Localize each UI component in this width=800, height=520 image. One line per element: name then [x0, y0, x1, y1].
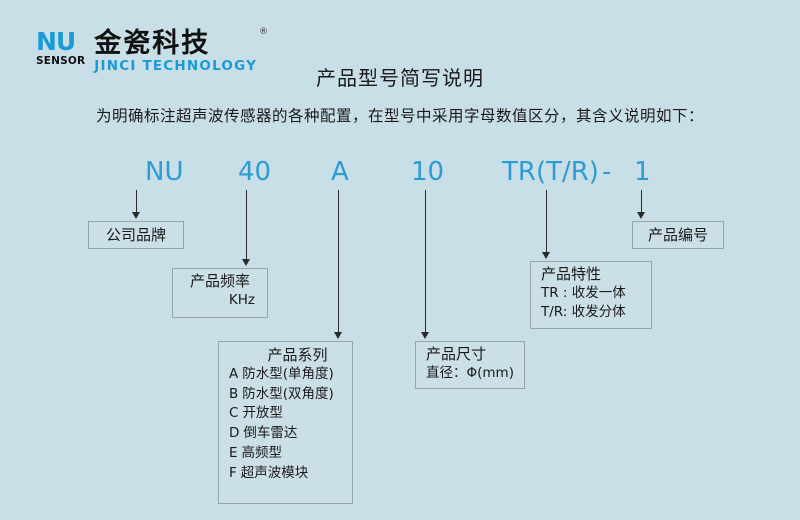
page-title: 产品型号简写说明 — [0, 62, 800, 91]
series-item-key: B — [229, 386, 238, 402]
callout-product-feature-t-r: T/R: 收发分体 — [541, 303, 643, 323]
series-item-desc: 开放型 — [242, 405, 283, 421]
callout-product-size-detail: 直径：Φ(mm) — [426, 364, 516, 384]
callout-product-frequency-title: 产品频率 — [181, 272, 259, 291]
callout-product-series: 产品系列 A防水型(单角度) B防水型(双角度) C开放型 D倒车雷达 E高频型… — [218, 341, 353, 504]
callout-product-serial-title: 产品编号 — [648, 226, 708, 245]
code-segment-frequency: 40 — [238, 159, 271, 185]
callout-product-series-title: 产品系列 — [229, 346, 344, 365]
series-item-key: A — [229, 366, 238, 382]
callout-product-serial: 产品编号 — [632, 221, 724, 249]
diagram-canvas: NU SENSOR 金瓷科技 ® JINCI TECHNOLOGY 产品型号简写… — [0, 0, 800, 520]
callout-company-brand: 公司品牌 — [88, 221, 184, 249]
series-item: D倒车雷达 — [229, 424, 344, 444]
connector-arrow-brand — [132, 212, 140, 219]
connector-line-series — [338, 190, 339, 334]
series-item-desc: 防水型(单角度) — [242, 366, 334, 382]
series-item-key: C — [229, 405, 238, 421]
page-subtitle: 为明确标注超声波传感器的各种配置，在型号中采用字母数值区分，其含义说明如下： — [0, 104, 800, 126]
connector-line-frequency — [246, 190, 247, 261]
series-item-key: E — [229, 445, 238, 461]
registered-trademark-icon: ® — [259, 28, 268, 37]
series-item: A防水型(单角度) — [229, 365, 344, 385]
code-segment-size: 10 — [411, 159, 444, 185]
callout-product-frequency-unit: KHz — [181, 291, 259, 311]
series-item: E高频型 — [229, 444, 344, 464]
series-item-desc: 超声波模块 — [241, 465, 309, 481]
series-item-desc: 高频型 — [242, 445, 283, 461]
logo-chinese-wrap: 金瓷科技 ® — [94, 30, 257, 57]
logo-chinese-name: 金瓷科技 — [94, 28, 210, 59]
callout-product-frequency: 产品频率 KHz — [172, 268, 268, 318]
series-item-desc: 防水型(双角度) — [242, 386, 334, 402]
connector-line-size — [425, 190, 426, 334]
code-segment-separator: - — [602, 159, 611, 185]
code-segment-series: A — [331, 159, 349, 185]
connector-arrow-series — [334, 332, 342, 339]
connector-line-feature — [546, 190, 547, 254]
series-item: C开放型 — [229, 404, 344, 424]
logo-nu-text: NU — [36, 30, 85, 54]
code-segment-nu: NU — [145, 159, 183, 185]
callout-product-feature: 产品特性 TR : 收发一体 T/R: 收发分体 — [530, 261, 652, 329]
series-item: B防水型(双角度) — [229, 385, 344, 405]
series-item-key: D — [229, 425, 239, 441]
connector-arrow-serial — [637, 212, 645, 219]
callout-product-size: 产品尺寸 直径：Φ(mm) — [415, 341, 525, 389]
connector-arrow-size — [421, 332, 429, 339]
series-item: F超声波模块 — [229, 464, 344, 484]
callout-product-size-title: 产品尺寸 — [426, 345, 516, 364]
series-item-desc: 倒车雷达 — [243, 425, 297, 441]
callout-product-feature-title: 产品特性 — [541, 265, 643, 284]
code-segment-serial: 1 — [634, 159, 651, 185]
connector-arrow-frequency — [242, 259, 250, 266]
series-item-key: F — [229, 465, 237, 481]
callout-company-brand-title: 公司品牌 — [106, 226, 166, 245]
logo-mark: NU SENSOR — [36, 30, 85, 66]
callout-product-feature-tr: TR : 收发一体 — [541, 284, 643, 304]
code-segment-feature: TR(T/R) — [502, 159, 599, 185]
connector-arrow-feature — [542, 252, 550, 259]
connector-line-brand — [136, 190, 137, 214]
connector-line-serial — [641, 190, 642, 214]
